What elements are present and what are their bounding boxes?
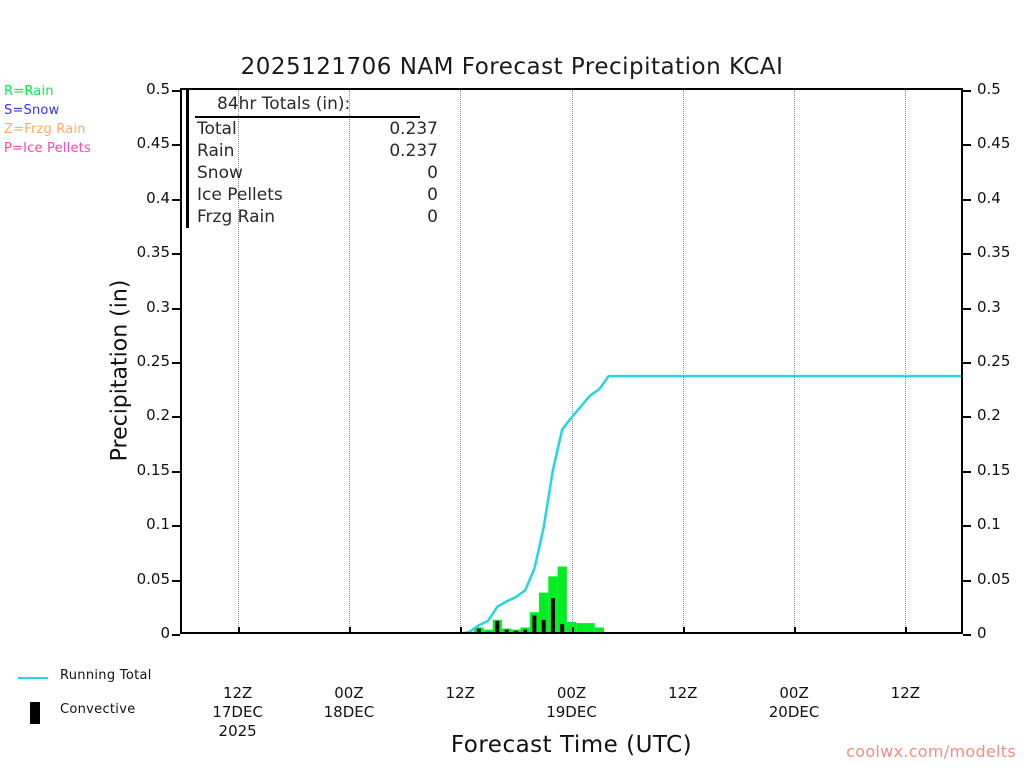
x-tick-mark bbox=[349, 627, 351, 634]
running-total-line bbox=[182, 376, 961, 632]
x-tick-time: 00Z bbox=[749, 684, 839, 703]
x-tick-label: 12Z bbox=[638, 684, 728, 703]
totals-label-snow: Snow bbox=[197, 162, 243, 184]
y-tick-label-right: 0.05 bbox=[977, 570, 1010, 588]
x-tick-time: 12Z bbox=[638, 684, 728, 703]
bar-rain bbox=[585, 623, 594, 632]
totals-row-total: Total 0.237 bbox=[189, 118, 454, 140]
y-tick-mark-left bbox=[172, 90, 180, 92]
bar-convective bbox=[542, 620, 546, 632]
y-tick-mark-right bbox=[963, 525, 971, 527]
y-tick-mark-right bbox=[963, 471, 971, 473]
x-tick-date: 19DEC bbox=[527, 703, 617, 722]
y-tick-mark-right bbox=[963, 308, 971, 310]
y-tick-label-right: 0.45 bbox=[977, 134, 1010, 152]
key-label-convective: Convective bbox=[60, 702, 136, 717]
running-total-line-icon bbox=[18, 677, 48, 679]
bar-convective bbox=[514, 631, 518, 632]
key-row-convective: Convective bbox=[8, 700, 188, 734]
y-tick-label-left: 0.5 bbox=[0, 80, 170, 98]
x-tick-mark bbox=[572, 627, 574, 634]
y-tick-label-right: 0.2 bbox=[977, 406, 1001, 424]
bar-rain bbox=[576, 623, 585, 632]
y-tick-label-right: 0.4 bbox=[977, 189, 1001, 207]
y-tick-mark-right bbox=[963, 634, 971, 636]
x-tick-label: 00Z19DEC bbox=[527, 684, 617, 722]
y-tick-mark-right bbox=[963, 90, 971, 92]
y-tick-label-left: 0.1 bbox=[0, 515, 170, 533]
totals-value-frzg-rain: 0 bbox=[427, 206, 438, 228]
bar-convective bbox=[532, 616, 536, 632]
y-tick-mark-right bbox=[963, 253, 971, 255]
page-title: 2025121706 NAM Forecast Precipitation KC… bbox=[0, 54, 1024, 80]
x-tick-date: 18DEC bbox=[304, 703, 394, 722]
y-tick-mark-left bbox=[172, 416, 180, 418]
convective-bar-icon bbox=[30, 702, 40, 724]
legend-item-snow: S=Snow bbox=[4, 101, 154, 120]
x-tick-mark bbox=[794, 627, 796, 634]
totals-label-total: Total bbox=[197, 118, 237, 140]
x-tick-label: 00Z18DEC bbox=[304, 684, 394, 722]
y-tick-label-right: 0.3 bbox=[977, 298, 1001, 316]
y-tick-mark-left bbox=[172, 580, 180, 582]
totals-value-snow: 0 bbox=[427, 162, 438, 184]
totals-row-snow: Snow 0 bbox=[189, 162, 454, 184]
x-tick-time: 12Z bbox=[415, 684, 505, 703]
x-tick-label: 12Z17DEC2025 bbox=[193, 684, 283, 741]
totals-value-rain: 0.237 bbox=[389, 140, 438, 162]
y-tick-mark-left bbox=[172, 253, 180, 255]
x-tick-mark bbox=[238, 627, 240, 634]
x-tick-date: 20DEC bbox=[749, 703, 839, 722]
y-tick-mark-left bbox=[172, 199, 180, 201]
totals-row-rain: Rain 0.237 bbox=[189, 140, 454, 162]
key-label-running-total: Running Total bbox=[60, 668, 152, 683]
x-tick-time: 12Z bbox=[193, 684, 283, 703]
series-key: Running Total Convective bbox=[8, 666, 188, 734]
y-tick-label-right: 0.25 bbox=[977, 352, 1010, 370]
y-tick-label-left: 0.05 bbox=[0, 570, 170, 588]
x-tick-mark bbox=[905, 627, 907, 634]
y-tick-label-left: 0.2 bbox=[0, 406, 170, 424]
y-tick-label-left: 0.4 bbox=[0, 189, 170, 207]
totals-label-ice-pellets: Ice Pellets bbox=[197, 184, 283, 206]
y-tick-label-right: 0.5 bbox=[977, 80, 1001, 98]
key-row-running-total: Running Total bbox=[8, 666, 188, 700]
totals-heading: 84hr Totals (in): bbox=[195, 92, 420, 118]
y-tick-label-left: 0.25 bbox=[0, 352, 170, 370]
y-tick-mark-right bbox=[963, 362, 971, 364]
totals-row-frzg-rain: Frzg Rain 0 bbox=[189, 206, 454, 228]
x-tick-mark bbox=[683, 627, 685, 634]
y-tick-mark-left bbox=[172, 471, 180, 473]
y-tick-mark-right bbox=[963, 416, 971, 418]
x-tick-time: 12Z bbox=[860, 684, 950, 703]
y-tick-label-left: 0.15 bbox=[0, 461, 170, 479]
bar-convective bbox=[560, 624, 564, 632]
x-tick-mark bbox=[460, 627, 462, 634]
y-tick-mark-left bbox=[172, 308, 180, 310]
bar-convective bbox=[505, 630, 509, 632]
y-tick-mark-left bbox=[172, 362, 180, 364]
bar-convective bbox=[551, 598, 555, 632]
y-tick-label-right: 0 bbox=[977, 624, 987, 642]
y-tick-label-left: 0.35 bbox=[0, 243, 170, 261]
y-tick-mark-left bbox=[172, 634, 180, 636]
bar-convective bbox=[523, 630, 527, 632]
bar-rain bbox=[558, 567, 567, 632]
y-tick-mark-left bbox=[172, 525, 180, 527]
y-tick-label-right: 0.15 bbox=[977, 461, 1010, 479]
y-tick-label-right: 0.1 bbox=[977, 515, 1001, 533]
totals-row-ice-pellets: Ice Pellets 0 bbox=[189, 184, 454, 206]
watermark: coolwx.com/modelts bbox=[0, 742, 1016, 761]
y-tick-label-left: 0.3 bbox=[0, 298, 170, 316]
bar-rain bbox=[595, 627, 604, 632]
bar-convective bbox=[495, 621, 499, 632]
x-tick-date: 17DEC bbox=[193, 703, 283, 722]
y-tick-mark-right bbox=[963, 199, 971, 201]
totals-label-rain: Rain bbox=[197, 140, 234, 162]
bar-convective bbox=[477, 629, 481, 632]
x-tick-year: 2025 bbox=[193, 722, 283, 741]
y-tick-label-left: 0.45 bbox=[0, 134, 170, 152]
totals-summary-box: 84hr Totals (in): Total 0.237 Rain 0.237… bbox=[186, 90, 454, 228]
y-tick-label-right: 0.35 bbox=[977, 243, 1010, 261]
x-tick-time: 00Z bbox=[304, 684, 394, 703]
x-tick-label: 00Z20DEC bbox=[749, 684, 839, 722]
totals-value-ice-pellets: 0 bbox=[427, 184, 438, 206]
y-tick-mark-left bbox=[172, 144, 180, 146]
y-tick-mark-right bbox=[963, 580, 971, 582]
totals-value-total: 0.237 bbox=[389, 118, 438, 140]
bar-rain bbox=[483, 630, 492, 632]
totals-label-frzg-rain: Frzg Rain bbox=[197, 206, 275, 228]
x-tick-label: 12Z bbox=[860, 684, 950, 703]
y-tick-label-left: 0 bbox=[0, 624, 170, 642]
y-tick-mark-right bbox=[963, 144, 971, 146]
x-tick-label: 12Z bbox=[415, 684, 505, 703]
x-tick-time: 00Z bbox=[527, 684, 617, 703]
